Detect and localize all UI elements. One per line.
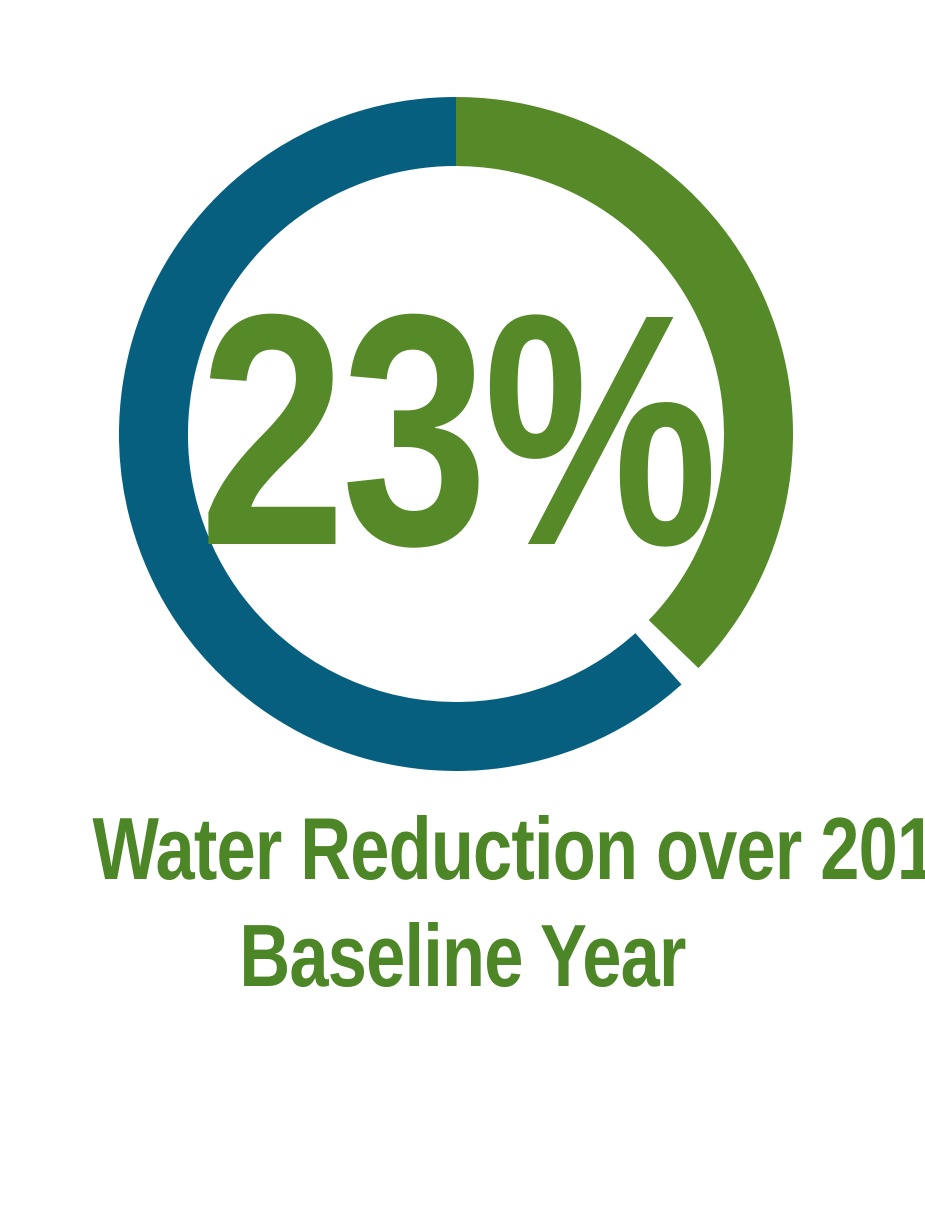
donut-segment-green <box>456 132 758 645</box>
infographic-root: 23% Water Reduction over 2014 Baseline Y… <box>0 0 925 1226</box>
caption-block: Water Reduction over 2014 Baseline Year <box>0 795 925 1010</box>
caption-line-2: Baseline Year <box>93 902 833 1009</box>
donut-chart: 23% <box>119 97 793 771</box>
caption-line-1: Water Reduction over 2014 <box>93 795 833 902</box>
donut-segments <box>153 132 758 737</box>
donut-chart-svg <box>119 97 793 771</box>
donut-segment-blue <box>153 132 658 737</box>
